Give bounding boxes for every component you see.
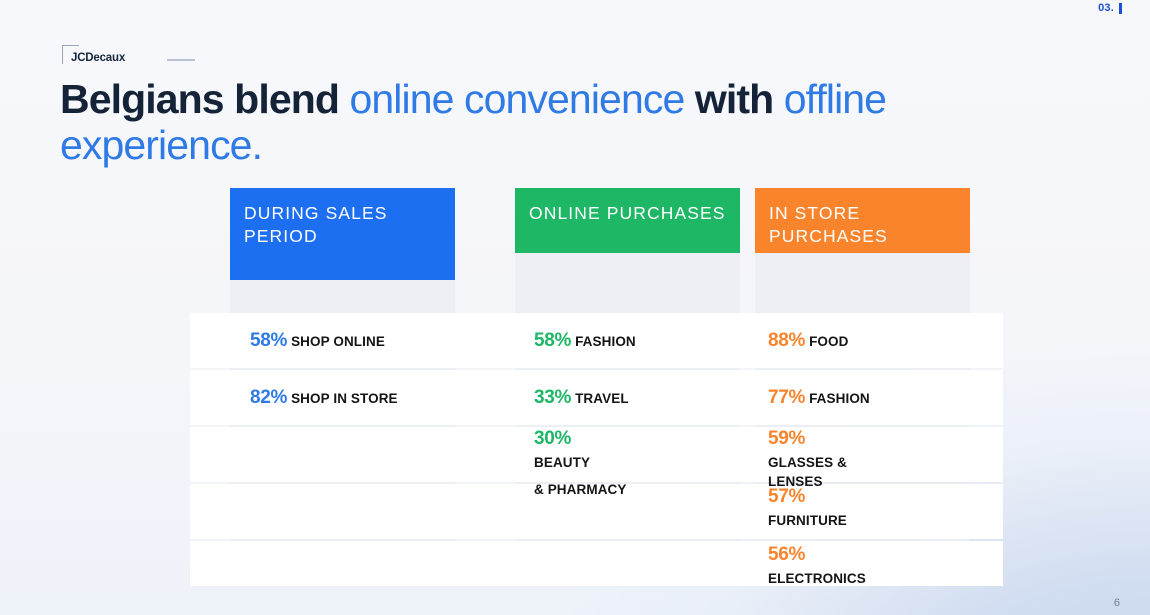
cell-label-line2: & PHARMACY [534,480,627,499]
headline-part-1: Belgians blend [60,76,350,122]
cell-during-sales-2: 82% SHOP IN STORE [250,385,398,411]
cell-during-sales-1: 58% SHOP ONLINE [250,328,385,354]
brand-logo: JCDecaux [62,45,187,69]
page-title: Belgians blend online convenience with o… [60,76,1080,169]
headline-part-2: online convenience [350,76,695,122]
table-row [190,541,1003,586]
cell-label: GLASSES & [768,453,847,472]
cell-instore-3: 59% GLASSES & LENSES [768,426,847,491]
cell-label-line2: ELECTRONICS [768,569,866,588]
cell-value: 57% [768,484,847,511]
cell-value: 56% [768,542,866,569]
cell-label: SHOP ONLINE [291,334,385,349]
column-header-online-purchases: ONLINE PURCHASES [515,188,740,253]
section-marker-bar-icon [1119,3,1122,14]
cell-label: FASHION [575,334,636,349]
section-marker-label: 03. [1098,2,1114,14]
logo-rule-icon [167,59,195,61]
cell-online-2: 33% TRAVEL [534,385,629,411]
logo-text: JCDecaux [71,52,125,64]
cell-label: SHOP IN STORE [291,391,398,406]
cell-value: 82% [250,387,287,408]
stats-table: DURING SALES PERIOD ONLINE PURCHASES IN … [190,188,1003,585]
cell-label: FASHION [809,391,870,406]
cell-value: 59% [768,428,805,449]
cell-online-3: 30% BEAUTY & PHARMACY [534,426,627,499]
cell-instore-1: 88% FOOD [768,328,848,354]
cell-value: 58% [250,330,287,351]
cell-label: BEAUTY [534,453,627,472]
cell-value: 33% [534,387,571,408]
cell-label: TRAVEL [575,391,629,406]
cell-label-line2: FURNITURE [768,511,847,530]
section-marker: 03. [1098,2,1122,14]
cell-value: 58% [534,330,571,351]
cell-instore-5: 56% ELECTRONICS [768,542,866,588]
cell-value: 88% [768,330,805,351]
cell-label: FOOD [809,334,848,349]
column-header-in-store-purchases: IN STORE PURCHASES [755,188,970,253]
cell-online-1: 58% FASHION [534,328,636,354]
cell-value: 30% [534,428,571,449]
cell-instore-4: 57% FURNITURE [768,484,847,530]
column-header-during-sales: DURING SALES PERIOD [230,188,455,280]
cell-value: 77% [768,387,805,408]
page-number: 6 [1114,597,1120,609]
cell-instore-2: 77% FASHION [768,385,870,411]
headline-part-3: with [695,76,784,122]
